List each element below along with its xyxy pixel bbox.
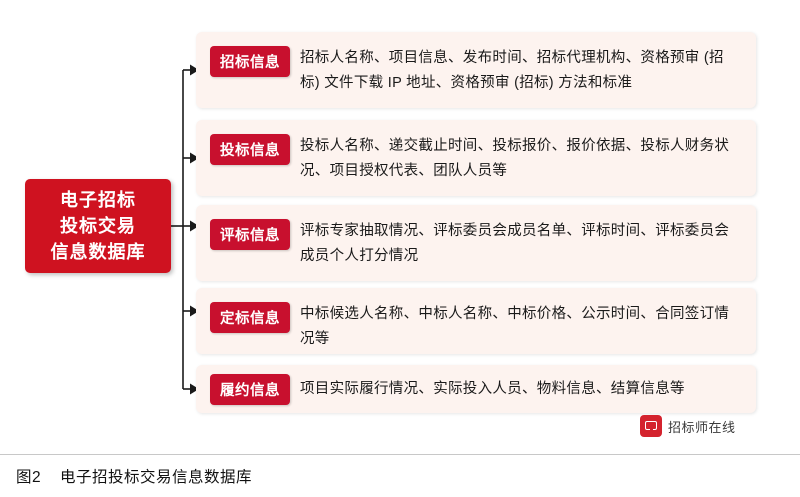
branch-row-performance-info: 履约信息 项目实际履行情况、实际投入人员、物料信息、结算信息等: [196, 365, 756, 413]
branch-tag-bid-info: 投标信息: [210, 134, 290, 165]
branch-text-evaluation-info: 评标专家抽取情况、评标委员会成员名单、评标时间、评标委员会成员个人打分情况: [300, 219, 742, 269]
branch-tag-performance-info: 履约信息: [210, 374, 290, 405]
branch-tag-tender-info: 招标信息: [210, 46, 290, 77]
branch-text-tender-info: 招标人名称、项目信息、发布时间、招标代理机构、资格预审 (招标) 文件下载 IP…: [300, 46, 742, 96]
branch-text-award-info: 中标候选人名称、中标人名称、中标价格、公示时间、合同签订情况等: [300, 302, 742, 352]
watermark-badge: 招标师在线: [640, 415, 736, 437]
branch-tag-award-info: 定标信息: [210, 302, 290, 333]
branch-row-evaluation-info: 评标信息 评标专家抽取情况、评标委员会成员名单、评标时间、评标委员会成员个人打分…: [196, 205, 756, 281]
root-node-line-2: 投标交易: [60, 213, 136, 239]
watermark-text: 招标师在线: [668, 417, 736, 436]
figure-caption: 图2 电子招投标交易信息数据库: [16, 465, 252, 487]
branch-row-bid-info: 投标信息 投标人名称、递交截止时间、投标报价、报价依据、投标人财务状况、项目授权…: [196, 120, 756, 196]
figure-number: 图2: [16, 469, 41, 486]
diagram-panel: 电子招标 投标交易 信息数据库 招标信息 招标人名称、项目信息、发布时间、招标代…: [0, 0, 800, 455]
branch-row-tender-info: 招标信息 招标人名称、项目信息、发布时间、招标代理机构、资格预审 (招标) 文件…: [196, 32, 756, 108]
root-node: 电子招标 投标交易 信息数据库: [25, 179, 171, 273]
branch-row-award-info: 定标信息 中标候选人名称、中标人名称、中标价格、公示时间、合同签订情况等: [196, 288, 756, 354]
root-node-line-3: 信息数据库: [51, 239, 146, 265]
wechat-badge-icon: [640, 415, 662, 437]
branch-text-performance-info: 项目实际履行情况、实际投入人员、物料信息、结算信息等: [300, 377, 742, 402]
figure-title: 电子招投标交易信息数据库: [60, 469, 252, 486]
branch-tag-evaluation-info: 评标信息: [210, 219, 290, 250]
branch-text-bid-info: 投标人名称、递交截止时间、投标报价、报价依据、投标人财务状况、项目授权代表、团队…: [300, 134, 742, 184]
root-node-line-1: 电子招标: [60, 187, 136, 213]
